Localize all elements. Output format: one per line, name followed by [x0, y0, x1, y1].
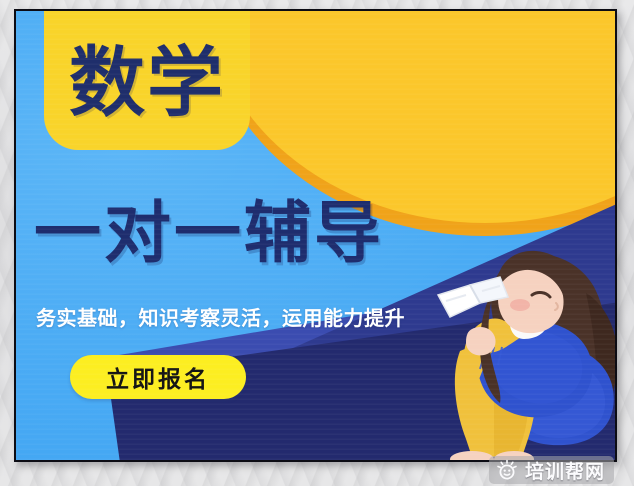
site-watermark: 培训帮网 — [489, 456, 614, 484]
headline-text: 一对一辅导 — [34, 200, 384, 267]
screenshot-canvas: 数学 — [0, 0, 634, 486]
girl-cheek-blush — [510, 299, 530, 311]
enroll-now-button[interactable]: 立即报名 — [70, 355, 246, 399]
subject-badge-label: 数学 — [69, 45, 225, 121]
poster-background: 数学 — [16, 11, 615, 460]
subject-badge: 数学 — [44, 11, 250, 150]
site-watermark-text: 培训帮网 — [525, 457, 605, 484]
girl-hand — [466, 327, 496, 355]
sun-smiley-icon — [496, 459, 518, 481]
subtitle-text: 务实基础，知识考察灵活，运用能力提升 — [36, 306, 405, 330]
illustration-seated-girl-reading — [436, 243, 615, 460]
decorative-yellow-arc — [205, 11, 615, 223]
enroll-now-button-label: 立即报名 — [106, 360, 210, 394]
promo-poster: 数学 — [14, 9, 617, 462]
